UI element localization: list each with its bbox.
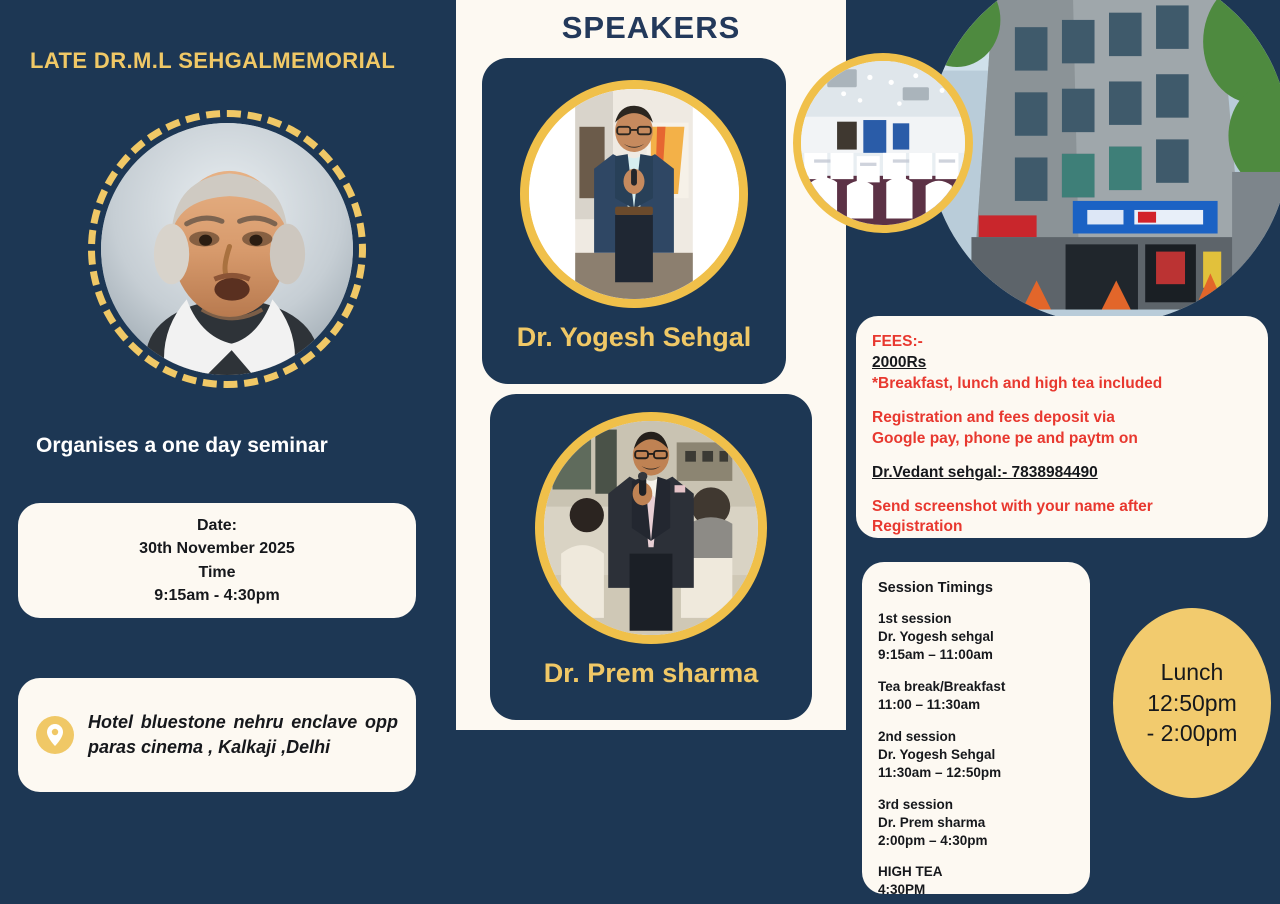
speaker-card: Dr. Prem sharma (490, 394, 812, 720)
session-time: 2:00pm – 4:30pm (878, 832, 1074, 850)
session-speaker: Dr. Prem sharma (878, 814, 1074, 832)
date-value: 30th November 2025 (139, 537, 295, 560)
hotel-building-photo (928, 0, 1280, 324)
session-label: 2nd session (878, 728, 1074, 746)
location-pin-icon (36, 716, 74, 754)
session-label: 1st session (878, 610, 1074, 628)
session-timings-card: Session Timings 1st session Dr. Yogesh s… (862, 562, 1090, 894)
speakers-heading: SPEAKERS (456, 10, 846, 46)
memorial-portrait-image (101, 123, 353, 375)
speaker-photo-prem-sharma (535, 412, 767, 644)
session-speaker: Dr. Yogesh Sehgal (878, 746, 1074, 764)
memorial-portrait (88, 110, 366, 388)
session-block: 2nd session Dr. Yogesh Sehgal 11:30am – … (878, 728, 1074, 782)
lunch-label: Lunch (1161, 657, 1224, 687)
lunch-badge: Lunch 12:50pm - 2:00pm (1113, 608, 1271, 798)
session-speaker: 4:30PM (878, 881, 1074, 899)
fees-deposit-line-2: Google pay, phone pe and paytm on (872, 429, 1252, 450)
session-timings-title: Session Timings (878, 580, 1074, 596)
session-block: HIGH TEA 4:30PM (878, 863, 1074, 899)
lunch-time-line-1: 12:50pm (1147, 688, 1237, 718)
venue-card: Hotel bluestone nehru enclave opp paras … (18, 678, 416, 792)
speaker-name: Dr. Prem sharma (544, 658, 759, 689)
memorial-title: LATE DR.M.L SEHGALMEMORIAL (30, 48, 430, 74)
seminar-poster: LATE DR.M.L SEHGALMEMORIAL (0, 0, 1280, 904)
session-label: 3rd session (878, 796, 1074, 814)
fees-contact[interactable]: Dr.Vedant sehgal:- 7838984490 (872, 463, 1252, 484)
fees-amount: 2000Rs (872, 353, 1252, 374)
session-time: 9:15am – 11:00am (878, 646, 1074, 664)
date-time-card: Date: 30th November 2025 Time 9:15am - 4… (18, 503, 416, 618)
speaker-photo-yogesh-sehgal (520, 80, 748, 308)
session-label: HIGH TEA (878, 863, 1074, 881)
date-label: Date: (197, 514, 237, 537)
speaker-name: Dr. Yogesh Sehgal (517, 322, 752, 353)
venue-address: Hotel bluestone nehru enclave opp paras … (88, 710, 398, 760)
time-label: Time (198, 561, 235, 584)
organises-text: Organises a one day seminar (36, 434, 436, 458)
session-block: 3rd session Dr. Prem sharma 2:00pm – 4:3… (878, 796, 1074, 850)
session-block: Tea break/Breakfast 11:00 – 11:30am (878, 678, 1074, 714)
fees-deposit-line-1: Registration and fees deposit via (872, 408, 1252, 429)
banquet-hall-photo (793, 53, 973, 233)
fees-heading: FEES:- (872, 332, 1252, 353)
session-block: 1st session Dr. Yogesh sehgal 9:15am – 1… (878, 610, 1074, 664)
session-label: Tea break/Breakfast (878, 678, 1074, 696)
time-value: 9:15am - 4:30pm (154, 584, 279, 607)
fees-screenshot-line-1: Send screenshot with your name after (872, 497, 1252, 518)
session-speaker: 11:00 – 11:30am (878, 696, 1074, 714)
fees-screenshot-line-2: Registration (872, 517, 1252, 538)
lunch-time-line-2: - 2:00pm (1147, 718, 1238, 748)
fees-inclusions: *Breakfast, lunch and high tea included (872, 374, 1252, 395)
session-speaker: Dr. Yogesh sehgal (878, 628, 1074, 646)
speaker-card: Dr. Yogesh Sehgal (482, 58, 786, 384)
session-time: 11:30am – 12:50pm (878, 764, 1074, 782)
fees-card: FEES:- 2000Rs *Breakfast, lunch and high… (856, 316, 1268, 538)
